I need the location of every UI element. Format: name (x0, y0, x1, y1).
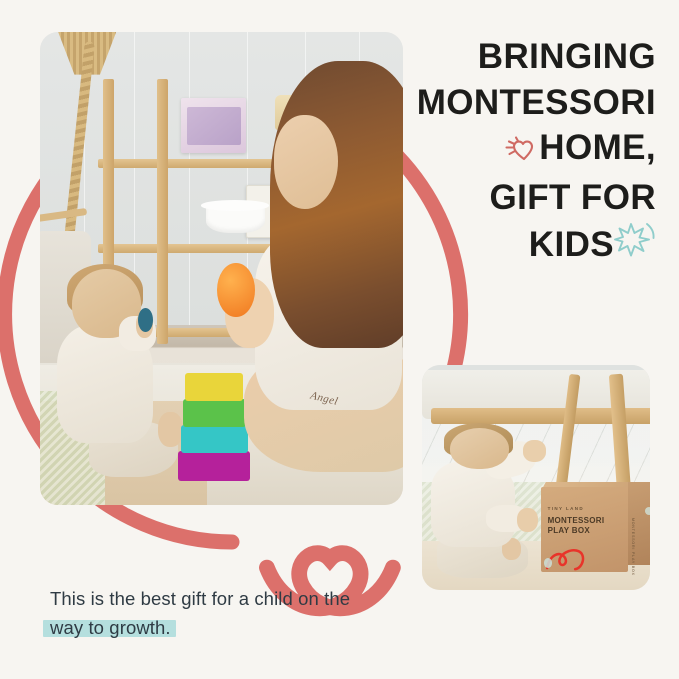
caption-text: This is the best gift for a child on the… (50, 585, 410, 642)
box-side-sticker (645, 507, 650, 515)
second-photo-scene: TINY LAND MONTESSORI PLAY BOX MONTESSORI… (422, 365, 650, 590)
teether-toy (138, 308, 153, 332)
box-side-text: MONTESSORI PLAY BOX (631, 518, 635, 576)
orange-ball-toy (217, 263, 255, 317)
caption-line-2-wrap: way to growth. (50, 614, 410, 643)
montessori-play-box-package: TINY LAND MONTESSORI PLAY BOX MONTESSORI… (541, 482, 650, 572)
box-title-line1: MONTESSORI (548, 516, 605, 525)
box-title-line2: PLAY BOX (548, 526, 590, 535)
main-product-photo: Angel (40, 32, 403, 505)
caption-highlight: way to growth. (50, 617, 171, 638)
box-brand-label: TINY LAND (548, 506, 585, 511)
headline-line-3-wrap: HOME, (406, 125, 656, 175)
heart-doodle-icon (505, 129, 539, 175)
headline-line-5: KIDS (529, 225, 614, 264)
headline: BRINGING MONTESSORI HOME, GIFT FOR KIDS (406, 34, 656, 272)
baby-figure (55, 269, 178, 487)
baby-figure-second (431, 428, 536, 581)
headline-line-1: BRINGING (406, 34, 656, 80)
main-photo-scene: Angel (40, 32, 403, 505)
product-image-canvas: Angel (0, 0, 679, 679)
stacking-cups-toy (185, 373, 243, 482)
headline-line-3: HOME, (539, 128, 656, 167)
headline-line-2: MONTESSORI (406, 80, 656, 126)
mother-figure: Angel (236, 108, 403, 496)
headline-line-4: GIFT FOR (406, 175, 656, 221)
box-seal-sticker (544, 558, 552, 567)
caption-line-1: This is the best gift for a child on the (50, 585, 410, 614)
caption-line-2: way to growth. (50, 617, 171, 638)
sparkle-star-icon (614, 220, 656, 272)
headline-line-5-wrap: KIDS (406, 220, 656, 272)
box-red-squiggle-graphic (546, 543, 602, 572)
secondary-product-photo: TINY LAND MONTESSORI PLAY BOX MONTESSORI… (422, 365, 650, 590)
